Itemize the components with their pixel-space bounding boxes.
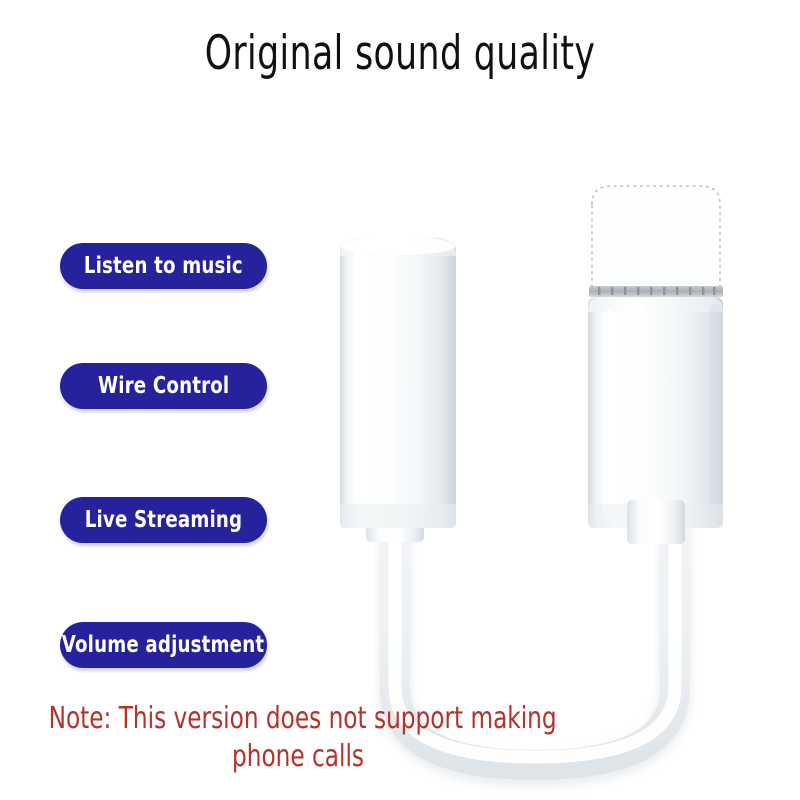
- disclaimer-note-line-1: Note: This version does not support maki…: [49, 700, 548, 738]
- lightning-body-gloss: [603, 310, 615, 516]
- feature-pill-live-streaming: Live Streaming: [60, 497, 267, 543]
- page-title: Original sound quality: [72, 26, 728, 82]
- feature-pill-volume-adjustment: Volume adjustment: [60, 622, 267, 668]
- audio-jack-housing: [340, 237, 476, 542]
- feature-pill-label: Wire Control: [98, 373, 229, 399]
- audio-jack-base-shade: [340, 504, 456, 528]
- feature-pill-listen-to-music: Listen to music: [60, 243, 267, 289]
- disclaimer-note-line-2: phone calls: [49, 738, 548, 776]
- lightning-body-edge-shade: [710, 304, 723, 518]
- product-promo-image: Original sound quality Listen to music W…: [0, 0, 800, 800]
- audio-jack-gloss: [354, 252, 365, 512]
- feature-pill-label: Volume adjustment: [62, 632, 264, 658]
- lightning-body-top: [588, 297, 723, 312]
- lightning-strain-relief: [627, 500, 685, 544]
- feature-pill-wire-control: Wire Control: [60, 363, 267, 409]
- lightning-connector: [588, 186, 723, 544]
- lightning-tip-inner: [599, 194, 713, 286]
- feature-pill-label: Listen to music: [84, 253, 243, 279]
- disclaimer-note: Note: This version does not support maki…: [8, 700, 588, 776]
- feature-pill-label: Live Streaming: [85, 507, 243, 533]
